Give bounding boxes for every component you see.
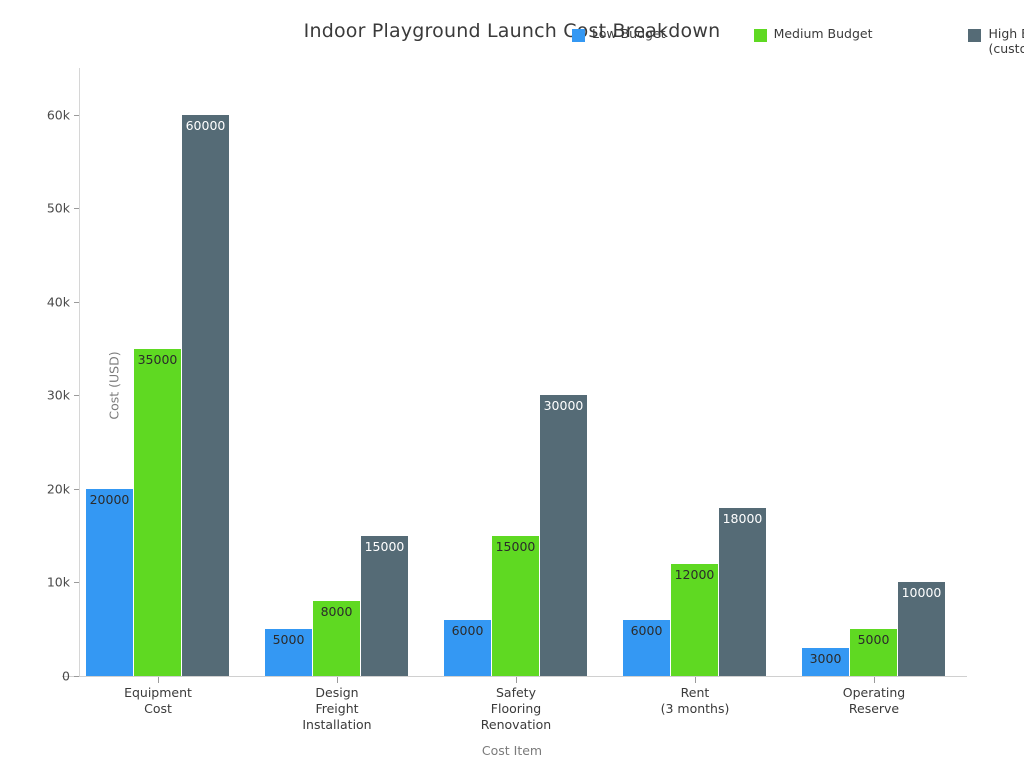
bar[interactable]: 10000 (898, 582, 945, 676)
bar-value-label: 10000 (898, 585, 945, 600)
legend-swatch-icon (968, 29, 981, 42)
bar[interactable]: 3000 (802, 648, 849, 676)
y-axis-tick-mark (74, 676, 79, 677)
bar-value-label: 3000 (802, 651, 849, 666)
legend-item[interactable]: Medium Budget (754, 26, 873, 42)
y-axis-tick-label: 10k (20, 575, 70, 590)
bar-value-label: 60000 (182, 118, 229, 133)
bar[interactable]: 30000 (540, 395, 587, 676)
y-axis-tick-label: 30k (20, 388, 70, 403)
y-axis-tick-mark (74, 395, 79, 396)
y-axis-tick-mark (74, 208, 79, 209)
bar-value-label: 35000 (134, 352, 181, 367)
bar[interactable]: 5000 (850, 629, 897, 676)
bar-value-label: 5000 (265, 632, 312, 647)
y-axis-tick-mark (74, 302, 79, 303)
bar-value-label: 8000 (313, 604, 360, 619)
bar-chart: Indoor Playground Launch Cost Breakdown … (0, 0, 1024, 768)
bar-value-label: 5000 (850, 632, 897, 647)
bar-value-label: 15000 (361, 539, 408, 554)
legend-swatch-icon (754, 29, 767, 42)
x-axis-tick-mark (695, 677, 696, 683)
legend-label: Low Budget (592, 26, 666, 41)
x-axis-line (62, 676, 967, 677)
bar-value-label: 30000 (540, 398, 587, 413)
chart-legend: Low BudgetMedium BudgetHigh Budget (cust… (572, 26, 1024, 66)
bar-value-label: 6000 (623, 623, 670, 638)
y-axis-tick-label: 0 (20, 669, 70, 684)
bar-value-label: 12000 (671, 567, 718, 582)
bar[interactable]: 35000 (134, 349, 181, 676)
y-axis-tick-label: 60k (20, 107, 70, 122)
y-axis-title: Cost (USD) (107, 306, 122, 466)
bar-value-label: 15000 (492, 539, 539, 554)
bar[interactable]: 12000 (671, 564, 718, 676)
y-axis-tick-mark (74, 582, 79, 583)
x-axis-tick-mark (516, 677, 517, 683)
legend-swatch-icon (572, 29, 585, 42)
bar[interactable]: 8000 (313, 601, 360, 676)
legend-item[interactable]: Low Budget (572, 26, 666, 42)
legend-label: Medium Budget (774, 26, 873, 41)
x-axis-tick-label: Operating Reserve (764, 685, 984, 717)
bar-value-label: 20000 (86, 492, 133, 507)
bar[interactable]: 60000 (182, 115, 229, 676)
bar[interactable]: 20000 (86, 489, 133, 676)
bar[interactable]: 6000 (623, 620, 670, 676)
legend-label: High Budget (custom theme) (988, 26, 1024, 56)
bar[interactable]: 15000 (492, 536, 539, 676)
y-axis-tick-mark (74, 115, 79, 116)
y-axis-tick-label: 40k (20, 294, 70, 309)
y-axis-tick-label: 50k (20, 201, 70, 216)
bar[interactable]: 6000 (444, 620, 491, 676)
legend-item[interactable]: High Budget (custom theme) (968, 26, 1024, 56)
y-axis-tick-label: 20k (20, 481, 70, 496)
y-axis-tick-mark (74, 489, 79, 490)
x-axis-tick-mark (874, 677, 875, 683)
bar[interactable]: 5000 (265, 629, 312, 676)
x-axis-tick-mark (337, 677, 338, 683)
bar-value-label: 6000 (444, 623, 491, 638)
bar[interactable]: 18000 (719, 508, 766, 676)
bar-value-label: 18000 (719, 511, 766, 526)
bar[interactable]: 15000 (361, 536, 408, 676)
x-axis-tick-mark (158, 677, 159, 683)
x-axis-title: Cost Item (0, 743, 1024, 758)
